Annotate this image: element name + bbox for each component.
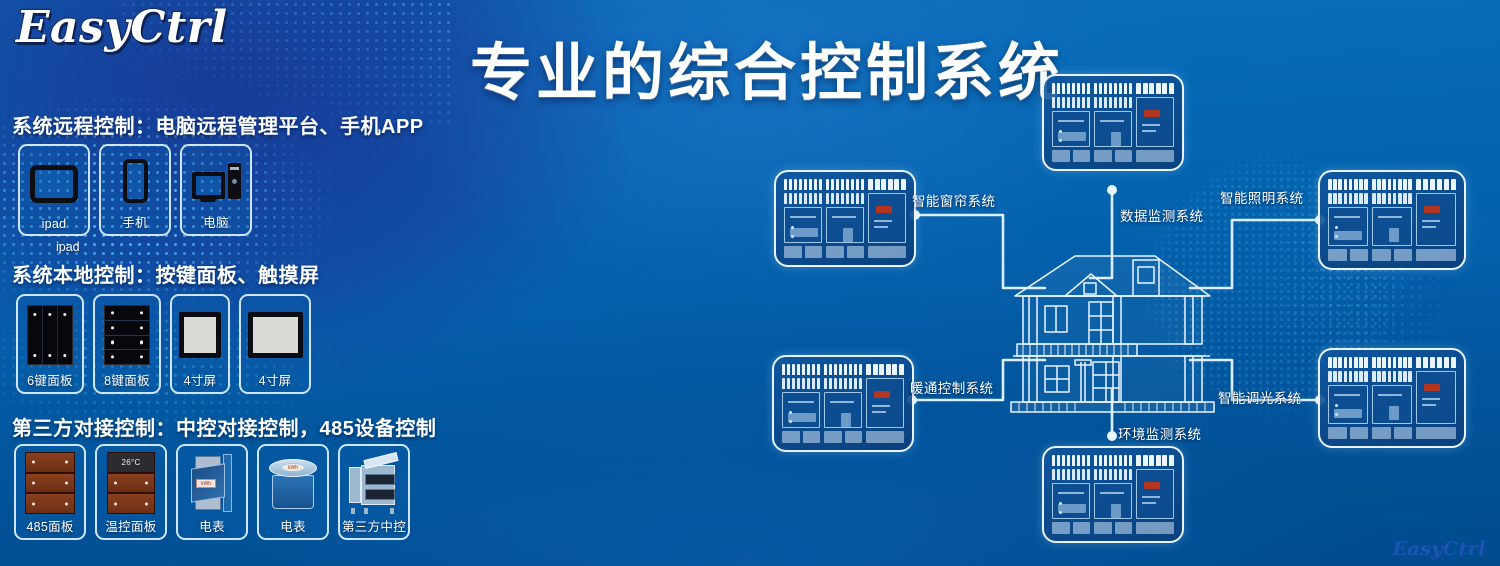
node-label-data-monitoring: 数据监测系统 <box>1120 205 1203 225</box>
module-card-hvac[interactable] <box>772 355 914 452</box>
meter-tag: kWh <box>281 463 305 472</box>
device-card-label: ipad <box>42 217 67 231</box>
module-card-curtain[interactable] <box>774 170 916 267</box>
node-label-curtain: 智能窗帘系统 <box>912 190 995 210</box>
device-card-label: 第三方中控 <box>342 516 406 535</box>
brand-logo: EasyCtrl <box>16 2 228 53</box>
module-card-data-monitoring[interactable] <box>1042 74 1184 171</box>
device-card-phone[interactable]: 手机 <box>99 144 171 236</box>
four-inch-screen-wide-icon <box>246 302 304 368</box>
thermostat-panel-icon: 26°C <box>102 452 160 514</box>
module-card-environment[interactable] <box>1042 446 1184 543</box>
system-topology-diagram: 智能窗帘系统 数据监测系统 <box>760 60 1480 566</box>
device-card-four-inch-screen[interactable]: 4寸屏 <box>170 294 230 394</box>
device-card-label: 4寸屏 <box>184 370 217 389</box>
device-card-four-inch-screen-wide[interactable]: 4寸屏 <box>239 294 311 394</box>
device-card-ipad[interactable]: ipad <box>18 144 90 236</box>
node-label-lighting: 智能照明系统 <box>1220 187 1303 207</box>
node-label-environment: 环境监测系统 <box>1118 423 1201 443</box>
thermostat-display-value: 26°C <box>108 453 154 472</box>
device-card-label: 6键面板 <box>27 370 73 389</box>
device-row-local: 6键面板 8键面板 4寸屏 4寸屏 <box>16 294 311 394</box>
four-inch-screen-icon <box>177 302 223 368</box>
poster-canvas: EasyCtrl 专业的综合控制系统 系统远程控制：电脑远程管理平台、手机APP… <box>0 0 1500 566</box>
device-card-label: 485面板 <box>26 516 73 535</box>
stray-ipad-label: ipad <box>56 240 80 254</box>
module-card-lighting[interactable] <box>1318 170 1466 270</box>
section-heading-third-party: 第三方对接控制：中控对接控制，485设备控制 <box>12 412 436 441</box>
section-heading-remote: 系统远程控制：电脑远程管理平台、手机APP <box>12 110 424 139</box>
device-card-third-party-controller[interactable]: 第三方中控 <box>338 444 410 540</box>
node-label-hvac: 暖通控制系统 <box>910 377 993 397</box>
node-label-dimming: 智能调光系统 <box>1218 387 1301 407</box>
device-row-third-party: 485面板 26°C 温控面板 kWh 电表 <box>14 444 410 540</box>
device-card-thermostat-panel[interactable]: 26°C 温控面板 <box>95 444 167 540</box>
device-card-eight-key-panel[interactable]: 8键面板 <box>93 294 161 394</box>
device-card-label: 4寸屏 <box>259 370 292 389</box>
desktop-computer-icon <box>187 152 245 210</box>
device-card-label: 手机 <box>122 212 148 231</box>
device-card-label: 电表 <box>199 516 225 535</box>
eight-key-panel-icon <box>100 302 154 368</box>
tablet-icon <box>25 152 83 215</box>
section-heading-local: 系统本地控制：按键面板、触摸屏 <box>12 259 320 288</box>
electric-meter-round-icon: kWh <box>264 452 322 514</box>
device-card-electric-meter-round[interactable]: kWh 电表 <box>257 444 329 540</box>
device-card-electric-meter-box[interactable]: kWh 电表 <box>176 444 248 540</box>
module-card-dimming[interactable] <box>1318 348 1466 448</box>
six-key-panel-icon <box>23 302 77 368</box>
device-card-label: 电脑 <box>203 212 229 231</box>
electric-meter-box-icon: kWh <box>183 452 241 514</box>
device-card-label: 温控面板 <box>105 516 156 535</box>
house-illustration <box>1005 250 1220 422</box>
device-card-computer[interactable]: 电脑 <box>180 144 252 236</box>
third-party-controller-icon <box>345 452 403 514</box>
device-card-six-key-panel[interactable]: 6键面板 <box>16 294 84 394</box>
rs485-panel-icon <box>21 452 79 514</box>
device-card-rs485-panel[interactable]: 485面板 <box>14 444 86 540</box>
meter-tag: kWh <box>196 479 216 488</box>
device-card-label: 电表 <box>280 516 306 535</box>
smartphone-icon <box>106 152 164 210</box>
device-row-remote: ipad 手机 电脑 <box>18 144 252 236</box>
device-card-label: 8键面板 <box>104 370 150 389</box>
watermark-logo: EasyCtrl <box>1392 538 1486 560</box>
